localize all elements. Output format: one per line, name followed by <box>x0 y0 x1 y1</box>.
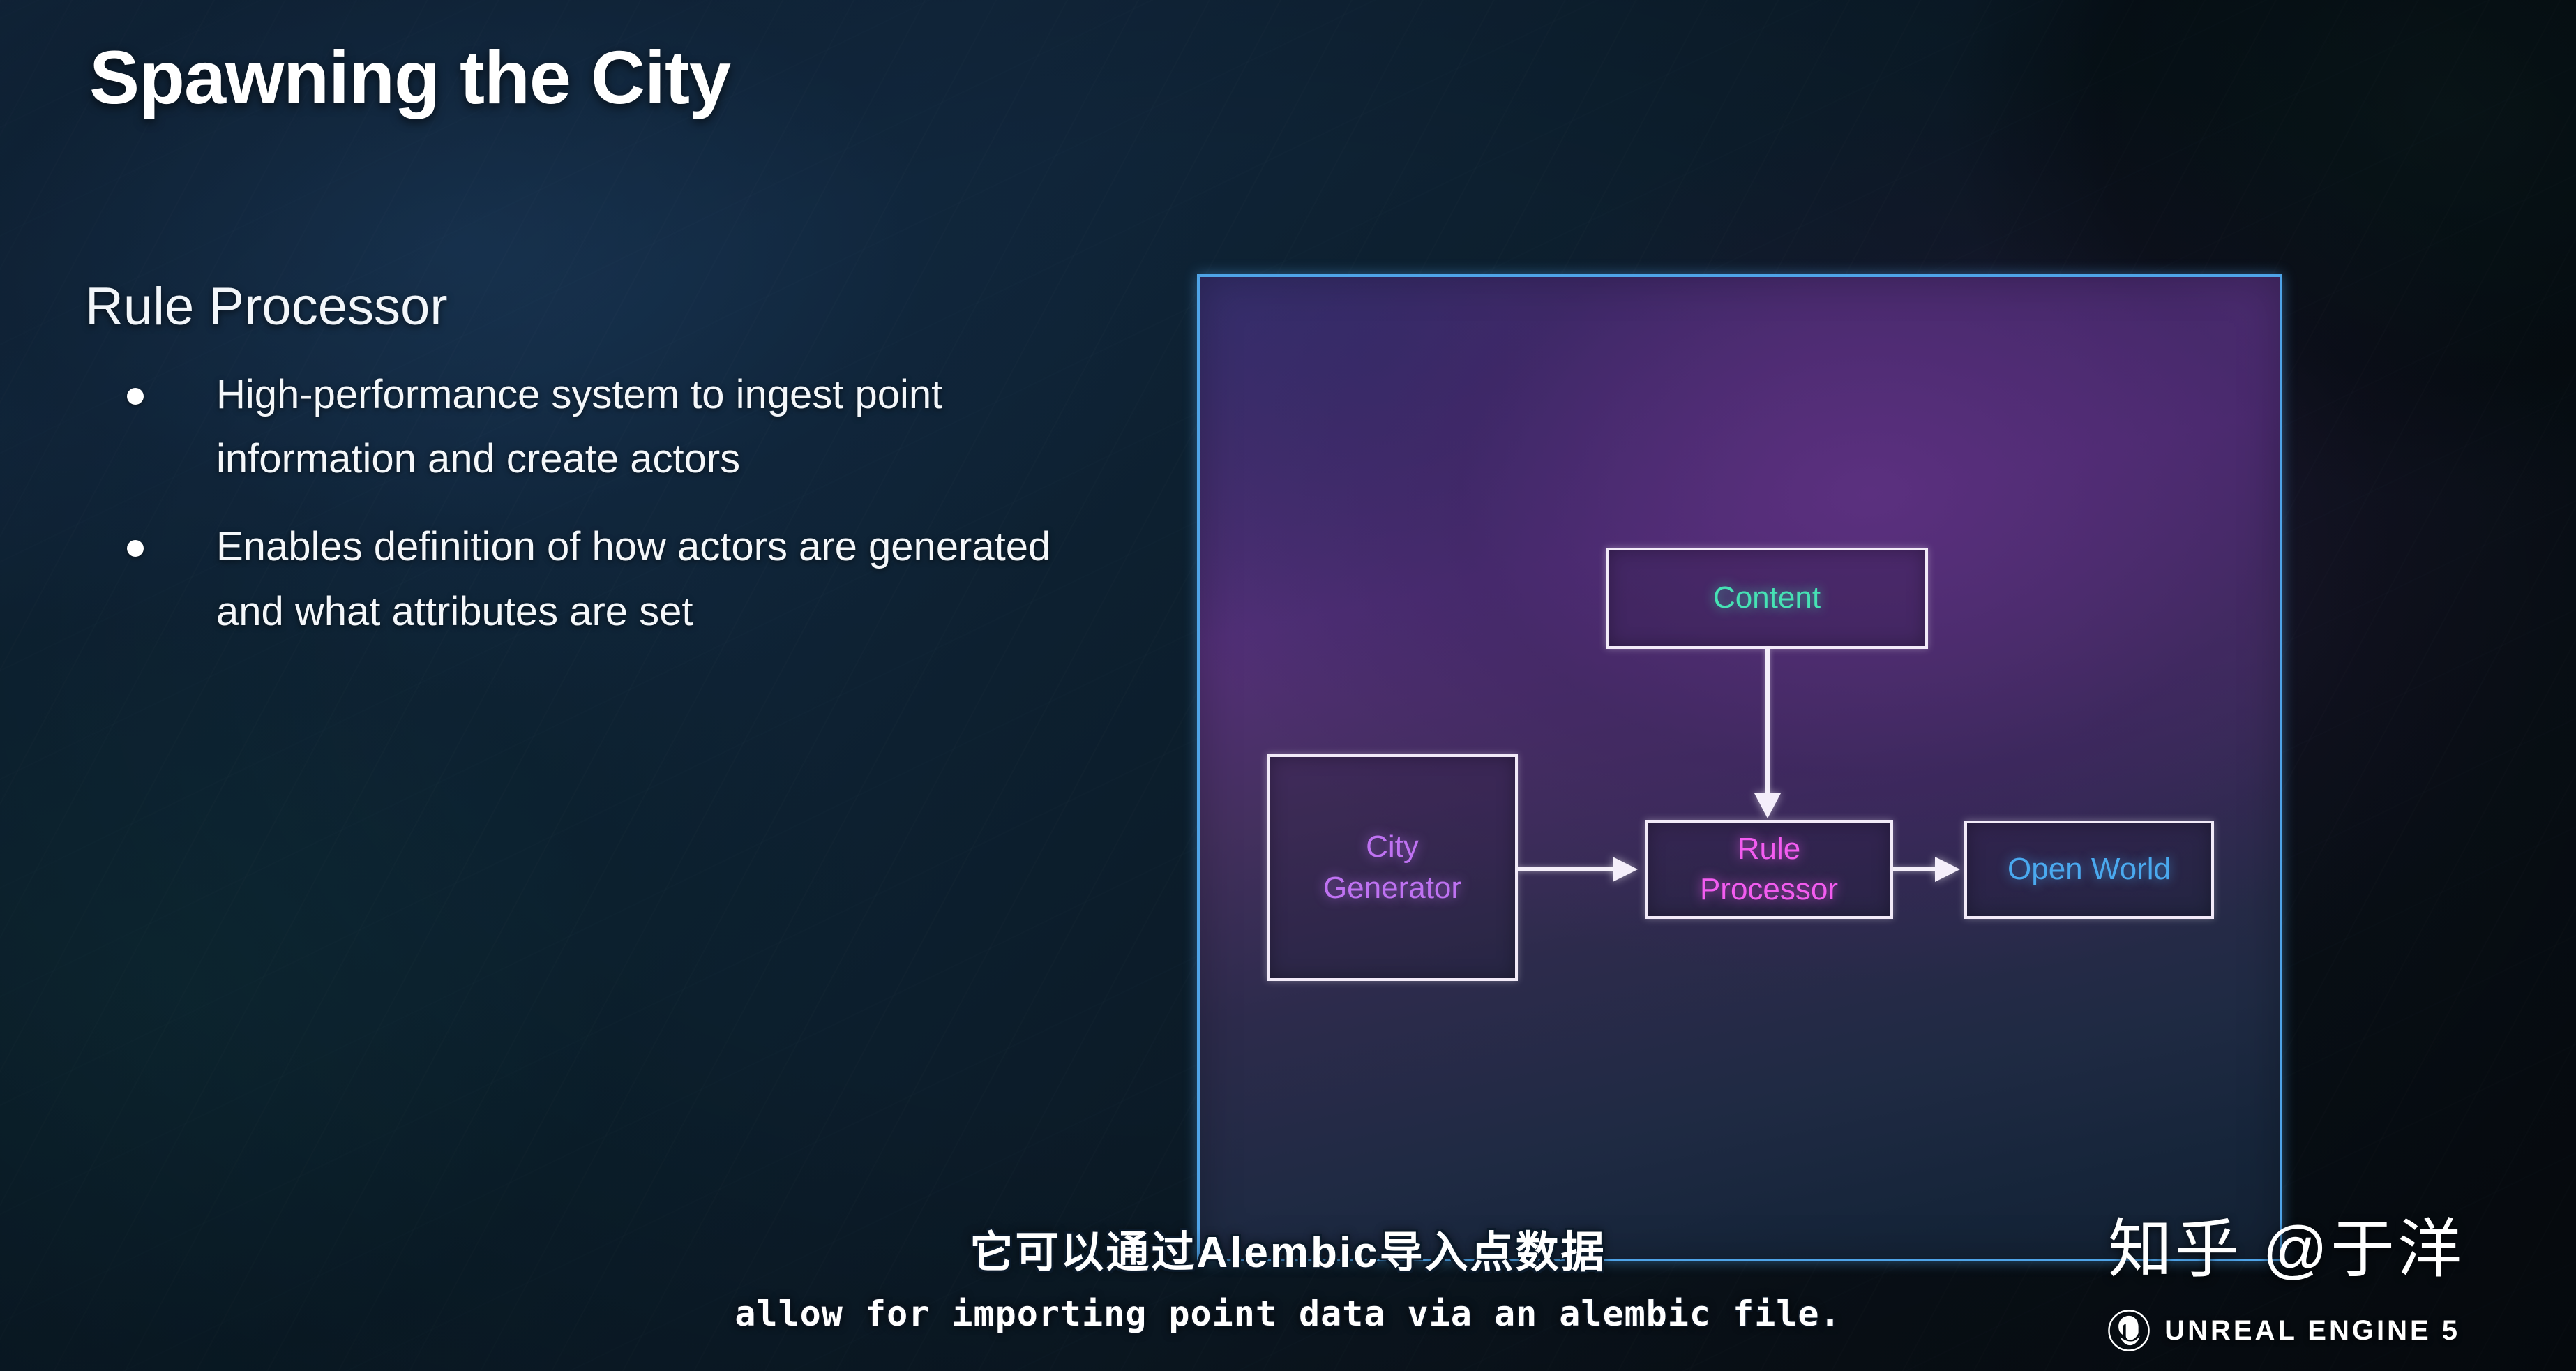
diagram-node-open-world: Open World <box>1964 821 2214 919</box>
zhihu-watermark: 知乎 @于洋 <box>2108 1197 2464 1290</box>
connector-city-generator-to-rule-processor <box>1518 867 1615 871</box>
connector-content-to-rule-processor <box>1765 649 1770 797</box>
diagram-node-rule-processor: Rule Processor <box>1645 820 1893 919</box>
node-label: City Generator <box>1323 827 1461 908</box>
bullet-dot-icon <box>127 388 144 405</box>
node-label: Rule Processor <box>1700 829 1838 910</box>
bullet-list: High-performance system to ingest point … <box>84 363 1074 668</box>
node-label: Open World <box>2008 849 2171 890</box>
slide-title: Spawning the City <box>89 33 730 121</box>
list-item: Enables definition of how actors are gen… <box>84 515 1074 643</box>
bullet-text: High-performance system to ingest point … <box>216 372 942 481</box>
arrowhead-right-icon <box>1613 857 1638 882</box>
node-label: Content <box>1713 578 1821 618</box>
arrowhead-right-icon <box>1935 857 1960 882</box>
list-item: High-performance system to ingest point … <box>84 363 1074 491</box>
section-heading: Rule Processor <box>85 276 448 337</box>
diagram-panel: Content City Generator Rule Processor Op… <box>1197 274 2282 1261</box>
connector-rule-processor-to-open-world <box>1893 867 1938 871</box>
unreal-engine-logo: UNREAL ENGINE 5 <box>2107 1309 2460 1352</box>
arrowhead-down-icon <box>1754 793 1781 818</box>
bullet-dot-icon <box>127 540 144 557</box>
presentation-slide: Spawning the City Rule Processor High-pe… <box>0 0 2576 1371</box>
bullet-text: Enables definition of how actors are gen… <box>216 524 1050 634</box>
diagram-node-city-generator: City Generator <box>1267 754 1518 981</box>
diagram-node-content: Content <box>1606 548 1928 649</box>
unreal-engine-u-icon <box>2107 1309 2151 1352</box>
unreal-engine-logo-text: UNREAL ENGINE 5 <box>2164 1315 2460 1347</box>
